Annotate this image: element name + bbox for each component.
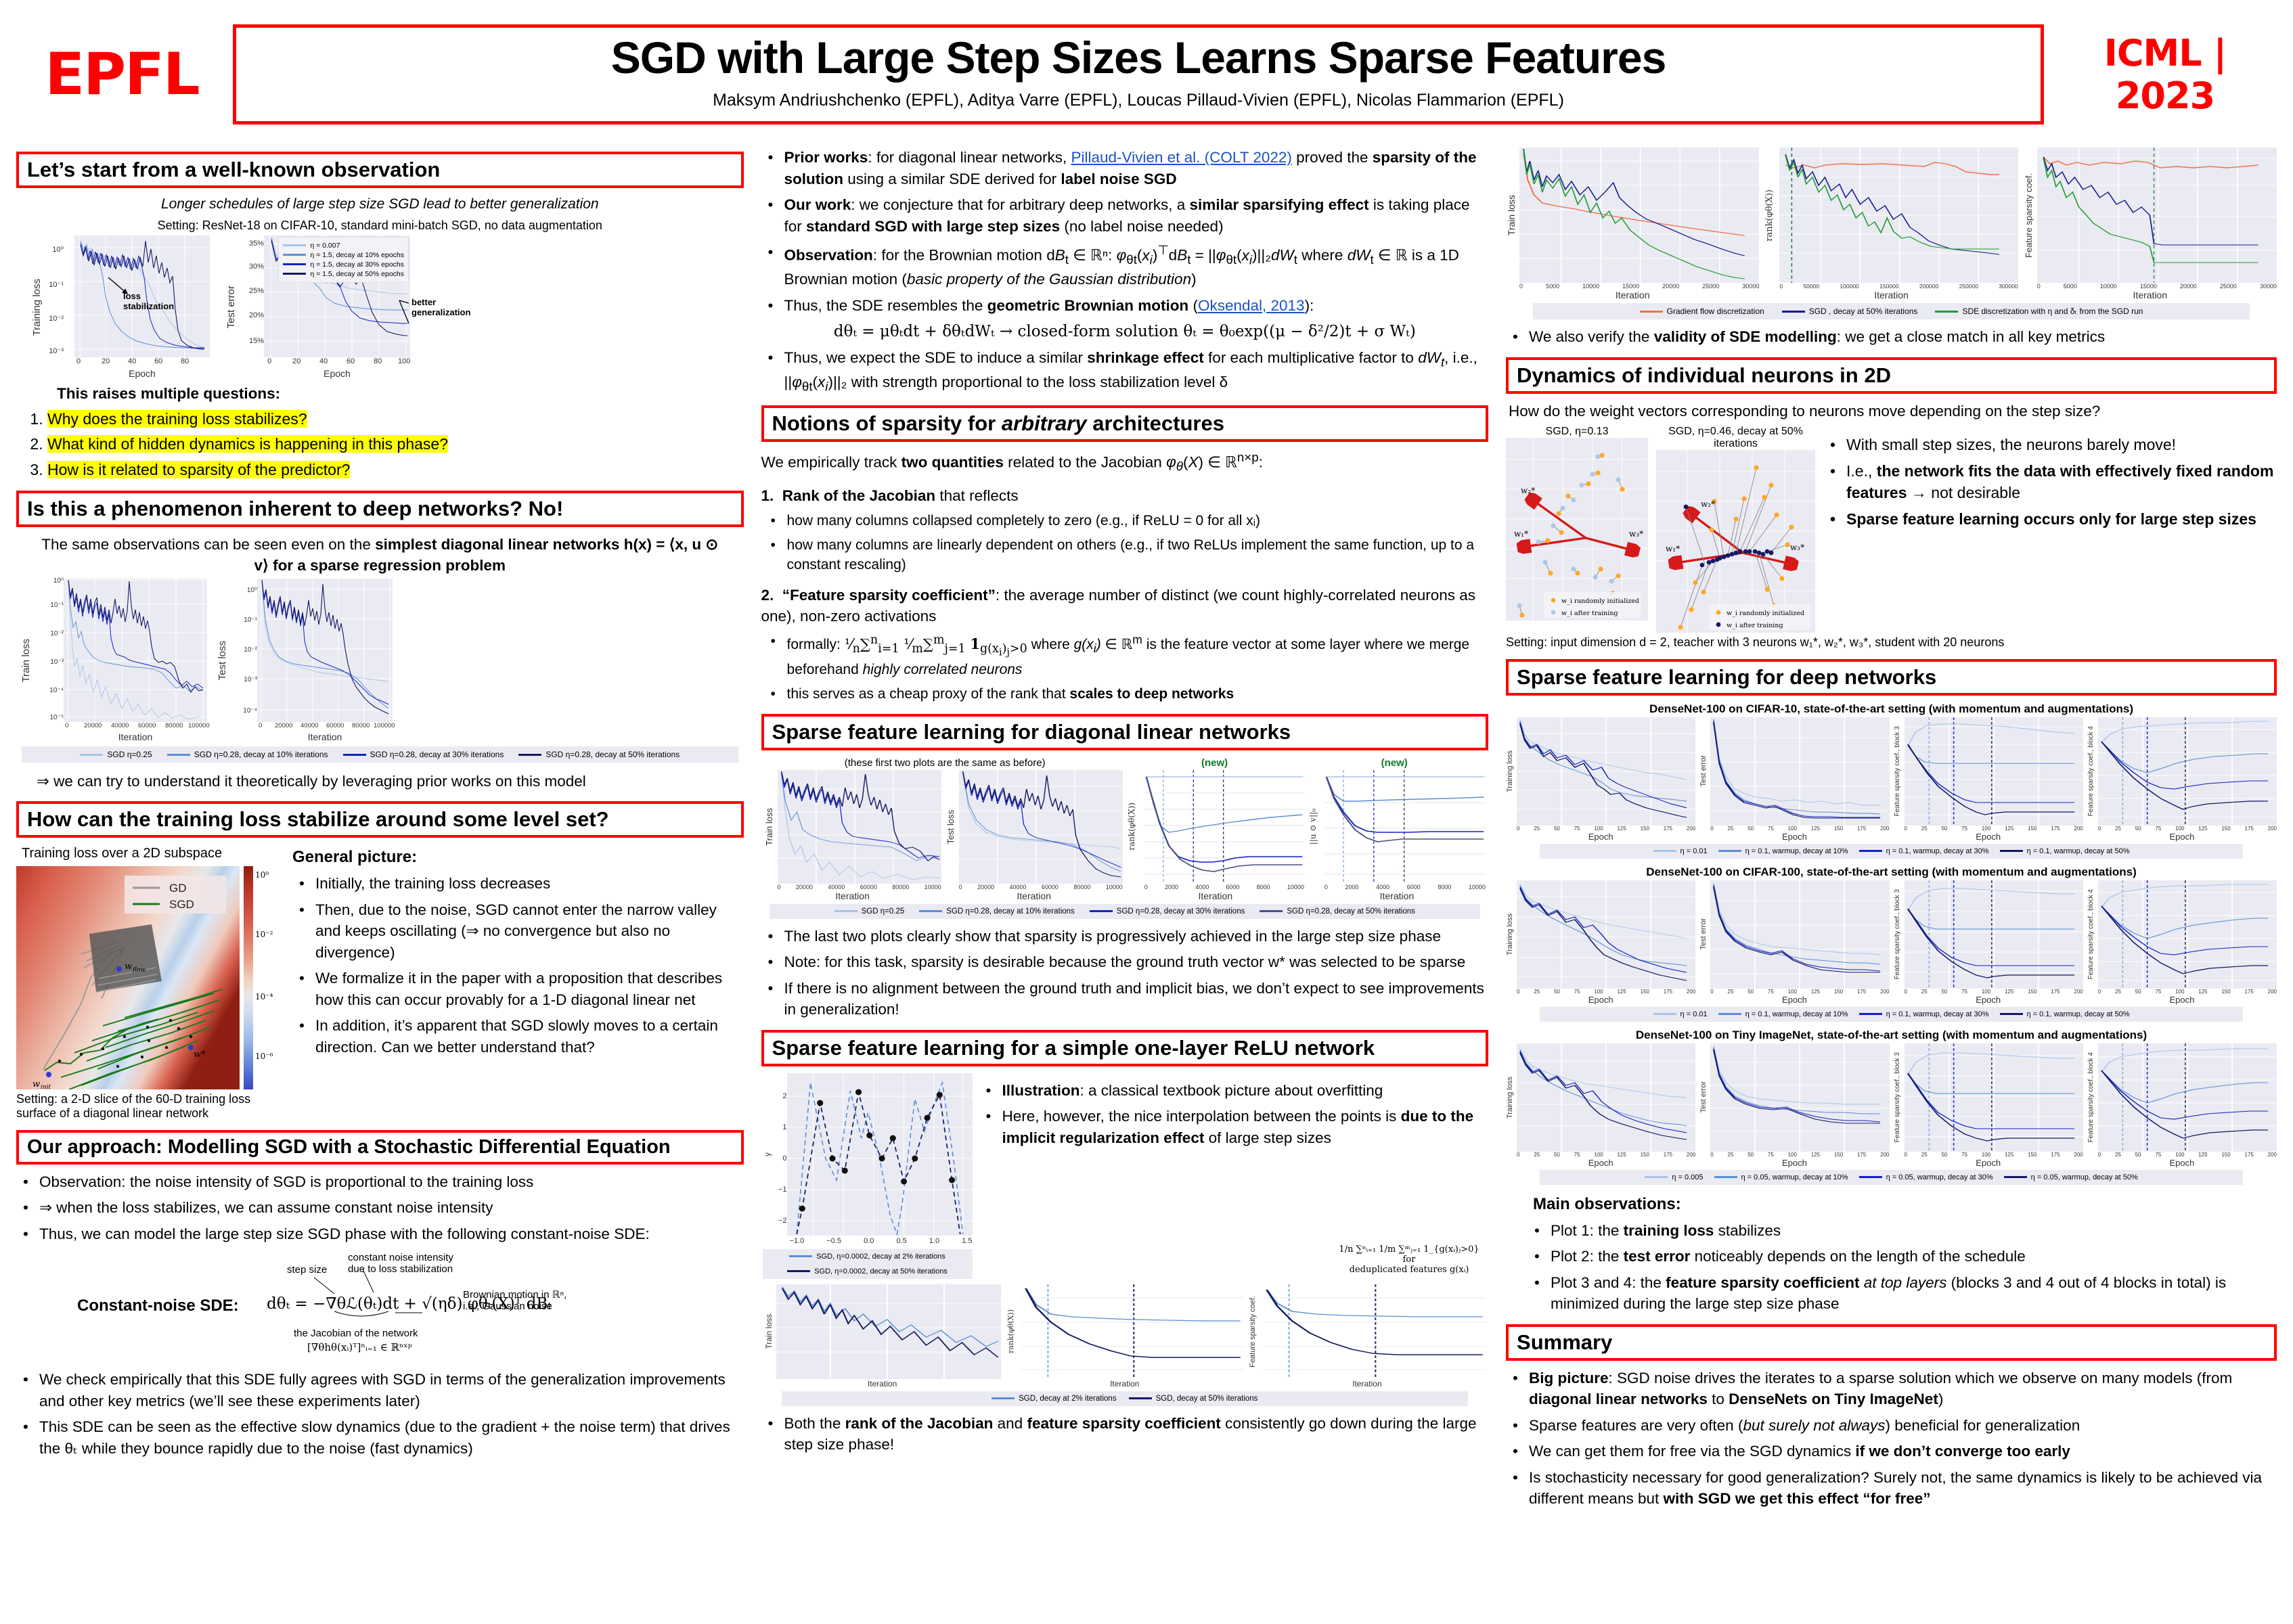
chart-sde-rank: rank(φθ(X)) 0500001000001500002000002500… <box>1764 148 2018 300</box>
loss-surface-colorbar: 10⁰ 10⁻² 10⁻⁴ 10⁻⁶ <box>244 866 278 1089</box>
section-heading-deep-networks: Is this a phenomenon inherent to deep ne… <box>16 491 744 527</box>
notions-lead: We empirically track two quantities rela… <box>761 449 1489 476</box>
chart-test-error-ylabel: Test error <box>225 286 237 328</box>
chart-dln-legend: SGD η=0.25 SGD η=0.28, decay at 10% iter… <box>22 746 738 763</box>
chart-relu-bottom-legend: SGD, decay at 2% iterations SGD, decay a… <box>782 1391 1469 1406</box>
chart-test-error-area: η = 0.007 η = 1.5, decay at 10% epochs η… <box>264 235 410 357</box>
annotation-brownian: Brownian motion in ℝⁿ, i.e., Gaussian no… <box>463 1288 566 1312</box>
section-heading-level-set: How can the training loss stabilize arou… <box>16 801 744 838</box>
section-heading-notions: Notions of sparsity for arbitrary archit… <box>761 405 1489 442</box>
list-item: Here, however, the nice interpolation be… <box>1000 1106 1488 1148</box>
chart-dln2-l0: ||u ⊙ v||₀ 0200040006000800010000 Iterat… <box>1308 770 1486 901</box>
annotation-better-generalization: bettergeneralization <box>411 297 462 317</box>
chart-test-error: Test error 35% 30% 25% 20% 15% <box>217 235 462 379</box>
chart-dln2-train-xlabel: Iteration <box>764 890 941 901</box>
observation-plots: Training loss 10⁰ 10⁻¹ 10⁻² 10⁻³ <box>19 235 744 379</box>
chart-dln-test-xlabel: Iteration <box>257 731 393 742</box>
author-list: Maksym Andriushchenko (EPFL), Aditya Var… <box>250 91 2027 110</box>
list-item: We check empirically that this SDE fully… <box>37 1369 744 1412</box>
sde-validity-note: We also verify the validity of SDE model… <box>1506 326 2277 348</box>
relu-observations: Illustration: a classical textbook pictu… <box>979 1080 1488 1149</box>
chart-relu-fit: y 21 0−1 −2 <box>763 1073 973 1279</box>
chart-dln2-legend: SGD η=0.25 SGD η=0.28, decay at 10% iter… <box>770 904 1481 919</box>
page-title: SGD with Large Step Sizes Learns Sparse … <box>250 35 2027 81</box>
list-item: Illustration: a classical textbook pictu… <box>1000 1080 1488 1102</box>
notion-2: 2. “Feature sparsity coefficient”: the a… <box>761 585 1489 627</box>
dln-four-plots: Train loss 02000040000600008000010000 It… <box>764 770 1486 901</box>
chart-training-loss-xlabel: Epoch <box>74 368 210 379</box>
list-item: how many columns are linearly dependent … <box>784 535 1489 575</box>
section-heading-neurons: Dynamics of individual neurons in 2D <box>1506 357 2277 394</box>
section-heading-relu: Sparse feature learning for a simple one… <box>761 1030 1489 1066</box>
chart-dln2-test-xlabel: Iteration <box>945 890 1123 901</box>
chart-training-loss: Training loss 10⁰ 10⁻¹ 10⁻² 10⁻³ <box>19 235 210 379</box>
list-item: Both the rank of the Jacobian and featur… <box>782 1413 1489 1456</box>
list-item: Plot 2: the test error noticeably depend… <box>1548 1246 2277 1267</box>
section-heading-sparse-dln: Sparse feature learning for diagonal lin… <box>761 714 1489 750</box>
svg-text:w: w <box>125 962 132 972</box>
chart-dln-test-area <box>257 579 393 722</box>
chart-test-error-xlabel: Epoch <box>264 368 410 379</box>
dln-plots: Train loss 10⁰10⁻¹ 10⁻²10⁻³ 10⁻⁴10⁻⁵ <box>20 579 744 742</box>
svg-text:w: w <box>32 1079 40 1089</box>
deep-block-tinyimagenet: DenseNet-100 on Tiny ImageNet, state-of-… <box>1506 1029 2277 1185</box>
list-item: Is stochasticity necessary for good gene… <box>1526 1467 2277 1510</box>
neurons-plot2-title: SGD, η=0.46, decay at 50% iterations <box>1656 426 1815 450</box>
chart-sde-legend: Gradient flow discretization SGD , decay… <box>1533 303 2250 319</box>
dln2-observations: The last two plots clearly show that spa… <box>761 926 1489 1020</box>
list-item: Plot 1: the training loss stabilizes <box>1548 1220 2277 1242</box>
list-item: Our work: we conjecture that for arbitra… <box>782 194 1489 237</box>
chart-dln2-test: Test loss 02000040000600008000010000 Ite… <box>945 770 1123 901</box>
sde-approach-list: Observation: the noise intensity of SGD … <box>16 1171 744 1245</box>
deep-block-3-title: DenseNet-100 on Tiny ImageNet, state-of-… <box>1506 1029 2277 1042</box>
link-oksendal[interactable]: Oksendal, 2013 <box>1198 297 1305 314</box>
chart-sde-trainloss: Train loss 05000100001500020000250003000… <box>1506 148 1759 300</box>
chart-sde-sparsity: Feature sparsity coef. 05000100001500020… <box>2024 148 2277 300</box>
sde-validation-plots: Train loss 05000100001500020000250003000… <box>1506 148 2277 300</box>
middle-column: Prior works: for diagonal linear network… <box>761 142 1489 1460</box>
list-item: Thus, the SDE resembles the geometric Br… <box>782 295 1489 317</box>
chart-dln2-train: Train loss 02000040000600008000010000 It… <box>764 770 941 901</box>
list-item: If there is no alignment between the gro… <box>782 978 1489 1020</box>
svg-text:GD: GD <box>169 882 187 895</box>
list-item: Initially, the training loss decreases <box>313 873 744 895</box>
deep-block-3-plots: Training loss 0255075100125150175200 Epo… <box>1506 1043 2277 1168</box>
svg-text:w₂*: w₂* <box>1701 499 1715 509</box>
deep-block-1-plots: Training loss 0255075100125150175200 Epo… <box>1506 717 2277 842</box>
svg-text:SGD: SGD <box>169 898 194 911</box>
section-heading-summary: Summary <box>1506 1324 2277 1361</box>
questions-list: Why does the training loss stabilizes? W… <box>16 408 744 481</box>
deep-block-1-legend: η = 0.01 η = 0.1, warmup, decay at 10% η… <box>1540 844 2243 859</box>
list-item: Note: for this task, sparsity is desirab… <box>782 951 1489 973</box>
list-item: We can get them for free via the SGD dyn… <box>1526 1441 2277 1462</box>
dln-intro: The same observations can be seen even o… <box>37 534 723 576</box>
relu-bottom-plots: Train loss Iteration rank(φθ(X)) <box>764 1284 1486 1389</box>
svg-text:flow: flow <box>132 967 146 974</box>
chart-dln2-rank: rank(φθ(X)) 0200040006000800010000 Itera… <box>1127 770 1304 901</box>
annotation-step-size: step size <box>287 1264 327 1276</box>
deep-block-2-plots: Training loss 0255075100125150175200 Epo… <box>1506 880 2277 1005</box>
neurons-question: How do the weight vectors corresponding … <box>1509 401 2277 422</box>
annotation-noise-intensity: constant noise intensity due to loss sta… <box>348 1252 453 1275</box>
list-item: Observation: the noise intensity of SGD … <box>37 1171 744 1193</box>
chart-observation-legend: η = 0.007 η = 1.5, decay at 10% epochs η… <box>278 237 409 283</box>
list-item: how many columns collapsed completely to… <box>784 511 1489 531</box>
list-item: Observation: for the Brownian motion dBt… <box>782 242 1489 290</box>
list-item: Sparse features are very often (but sure… <box>1526 1415 2277 1437</box>
questions-heading: This raises multiple questions: <box>57 383 744 404</box>
section-heading-sde-approach: Our approach: Modelling SGD with a Stoch… <box>16 1130 744 1165</box>
chart-training-loss-ylabel: Training loss <box>31 279 43 336</box>
relu-block: y 21 0−1 −2 <box>763 1073 1488 1279</box>
svg-text:w₁*: w₁* <box>1514 529 1528 539</box>
right-column: Train loss 05000100001500020000250003000… <box>1506 142 2277 1514</box>
section-heading-deep: Sparse feature learning for deep network… <box>1506 659 2277 696</box>
chart-neurons-large-eta: SGD, η=0.46, decay at 50% iterations <box>1656 426 1815 633</box>
chart-training-loss-area: lossstabilization <box>74 235 210 357</box>
svg-text:w_i after training: w_i after training <box>1727 622 1783 629</box>
list-item: Sparse feature learning occurs only for … <box>1844 508 2277 530</box>
svg-text:w_i randomly initialized: w_i randomly initialized <box>1561 597 1639 605</box>
chart-relu-legend: SGD, η=0.0002, decay at 2% iterations SG… <box>763 1249 973 1279</box>
list-item: This SDE can be seen as the effective sl… <box>37 1416 744 1459</box>
sde-intro-list: Prior works: for diagonal linear network… <box>761 147 1489 316</box>
general-picture-heading: General picture: <box>292 846 744 868</box>
chart-dln-test-loss: Test loss 10⁰10⁻¹ 10⁻²10⁻³ 10⁻⁴ <box>217 579 393 742</box>
deep-block-cifar100: DenseNet-100 on CIFAR-100, state-of-the-… <box>1506 865 2277 1022</box>
chart-dln-train-loss: Train loss 10⁰10⁻¹ 10⁻²10⁻³ 10⁻⁴10⁻⁵ <box>20 579 207 742</box>
neurons-setting: Setting: input dimension d = 2, teacher … <box>1506 635 2277 650</box>
chart-dln-train-ylabel: Train loss <box>20 639 32 682</box>
epfl-logo: EPFL <box>20 41 223 108</box>
chart-dln-test-ylabel: Test loss <box>217 641 228 680</box>
note-same-as-before: (these first two plots are the same as b… <box>765 757 1125 769</box>
dln-closing: ⇒ we can try to understand it theoretica… <box>37 771 744 792</box>
annotation-sparsity-formula: 1/n ∑ⁿᵢ₌₁ 1/m ∑ᵐⱼ₌₁ 1_{g(xᵢ)ⱼ>0} fordedu… <box>1331 1244 1487 1275</box>
neurons-plot1-title: SGD, η=0.13 <box>1506 426 1648 438</box>
chart-dln2-l0-xlabel: Iteration <box>1308 890 1486 901</box>
main-observations-heading: Main observations: <box>1533 1193 2277 1215</box>
notion-2-list: formally: ¹⁄n∑ni=1 ¹⁄m∑mj=1 1g(xi)j>0 wh… <box>761 631 1489 704</box>
annotation-loss-stabilization: lossstabilization <box>123 291 174 311</box>
poster-header: EPFL SGD with Large Step Sizes Learns Sp… <box>0 0 2293 142</box>
list-item: We also verify the validity of SDE model… <box>1526 326 2277 348</box>
loss-surface-block: Training loss over a 2D subspace <box>16 844 744 1121</box>
chart-dln-train-area <box>64 579 207 722</box>
left-column: Let’s start from a well-known observatio… <box>16 142 744 1464</box>
svg-text:w₂*: w₂* <box>1521 486 1535 495</box>
observation-setting: Setting: ResNet-18 on CIFAR-10, standard… <box>16 219 744 233</box>
link-pillaud-vivien[interactable]: Pillaud-Vivien et al. (COLT 2022) <box>1071 149 1291 166</box>
observation-subtitle: Longer schedules of large step size SGD … <box>16 195 744 215</box>
annotation-jacobian-formula: [∇θhθ(xᵢ)ᵀ]ⁿᵢ₌₁ ∈ ℝⁿˣᵖ <box>307 1341 412 1353</box>
svg-text:w*: w* <box>194 1050 206 1060</box>
summary-list: Big picture: SGD noise drives the iterat… <box>1506 1368 2277 1510</box>
list-item: Plot 3 and 4: the feature sparsity coeff… <box>1548 1272 2277 1315</box>
list-item: Then, due to the noise, SGD cannot enter… <box>313 899 744 964</box>
svg-text:init: init <box>41 1084 51 1089</box>
notion-1: 1. Rank of the Jacobian that reflects <box>761 485 1489 506</box>
svg-text:w₁*: w₁* <box>1666 544 1680 554</box>
annotation-jacobian: the Jacobian of the network <box>294 1328 418 1339</box>
list-item: Prior works: for diagonal linear network… <box>782 147 1489 189</box>
svg-text:w_i randomly initialized: w_i randomly initialized <box>1727 610 1804 617</box>
list-item: Why does the training loss stabilizes? <box>47 408 744 430</box>
shrinkage-list: Thus, we expect the SDE to induce a simi… <box>761 347 1489 396</box>
deep-block-2-title: DenseNet-100 on CIFAR-100, state-of-the-… <box>1506 865 2277 879</box>
list-item: this serves as a cheap proxy of the rank… <box>784 684 1489 704</box>
chart-neurons-small-eta: SGD, η=0.13 <box>1506 426 1648 633</box>
note-new-1: (new) <box>1125 757 1305 769</box>
gbm-equation: dθₜ = μθₜdt + δθₜdWₜ → closed-form solut… <box>761 323 1489 340</box>
dln-plot-notes: (these first two plots are the same as b… <box>765 757 1485 769</box>
sde-verification-list: We check empirically that this SDE fully… <box>16 1369 744 1459</box>
list-item: Thus, we expect the SDE to induce a simi… <box>782 347 1489 396</box>
deep-block-3-legend: η = 0.005 η = 0.05, warmup, decay at 10%… <box>1540 1170 2243 1185</box>
poster-columns: Let’s start from a well-known observatio… <box>0 142 2293 1514</box>
title-box: SGD with Large Step Sizes Learns Sparse … <box>233 24 2044 125</box>
neurons-plots: SGD, η=0.13 <box>1506 426 2277 633</box>
relu-closing: Both the rank of the Jacobian and featur… <box>761 1413 1489 1456</box>
chart-relu-rank: rank(φθ(X)) Iteration <box>1006 1284 1243 1389</box>
chart-dln-train-xlabel: Iteration <box>64 731 207 742</box>
list-item: How is it related to sparsity of the pre… <box>47 459 744 481</box>
deep-block-1-title: DenseNet-100 on CIFAR-10, state-of-the-a… <box>1506 702 2277 716</box>
list-item: Big picture: SGD noise drives the iterat… <box>1526 1368 2277 1410</box>
svg-text:w₃*: w₃* <box>1629 529 1643 539</box>
section-heading-observation: Let’s start from a well-known observatio… <box>16 152 744 188</box>
chart-relu-trainloss: Train loss Iteration <box>764 1284 1001 1389</box>
loss-surface-title: Training loss over a 2D subspace <box>22 844 280 863</box>
chart-loss-surface: w init w flow w* GD SGD <box>16 866 240 1089</box>
list-item: Thus, we can model the large step size S… <box>37 1223 744 1245</box>
loss-surface-setting: Setting: a 2-D slice of the 60-D trainin… <box>16 1092 253 1121</box>
list-item: In addition, it’s apparent that SGD slow… <box>313 1015 744 1058</box>
svg-text:w₃*: w₃* <box>1790 543 1804 552</box>
note-new-2: (new) <box>1304 757 1484 769</box>
venue-badge: ICML | 2023 <box>2053 32 2277 117</box>
deep-block-cifar10: DenseNet-100 on CIFAR-10, state-of-the-a… <box>1506 702 2277 859</box>
chart-relu-sparsity: Feature sparsity coef. Iteration <box>1249 1284 1486 1389</box>
list-item: With small step sizes, the neurons barel… <box>1844 434 2277 455</box>
list-item: The last two plots clearly show that spa… <box>782 926 1489 947</box>
notion-1-list: how many columns collapsed completely to… <box>761 511 1489 575</box>
list-item: We formalize it in the paper with a prop… <box>313 968 744 1010</box>
list-item: formally: ¹⁄n∑ni=1 ¹⁄m∑mj=1 1g(xi)j>0 wh… <box>784 631 1489 679</box>
list-item-noarrow: •⇒ when the loss stabilizes, we can assu… <box>37 1197 744 1219</box>
sde-equation-label: Constant-noise SDE: <box>77 1296 239 1315</box>
deep-block-2-legend: η = 0.01 η = 0.1, warmup, decay at 10% η… <box>1540 1007 2243 1022</box>
main-observations-list: Plot 1: the training loss stabilizes Plo… <box>1506 1220 2277 1315</box>
chart-dln2-rank-xlabel: Iteration <box>1127 890 1304 901</box>
list-item: I.e., the network fits the data with eff… <box>1844 460 2277 503</box>
list-item: What kind of hidden dynamics is happenin… <box>47 433 744 455</box>
sde-equation-block: Constant-noise SDE: dθₜ = −∇θℒ(θₜ)dt + √… <box>16 1249 744 1364</box>
general-picture-list: Initially, the training loss decreases T… <box>292 873 744 1058</box>
svg-text:w_i after training: w_i after training <box>1561 610 1618 617</box>
neurons-observations: With small step sizes, the neurons barel… <box>1823 434 2277 531</box>
